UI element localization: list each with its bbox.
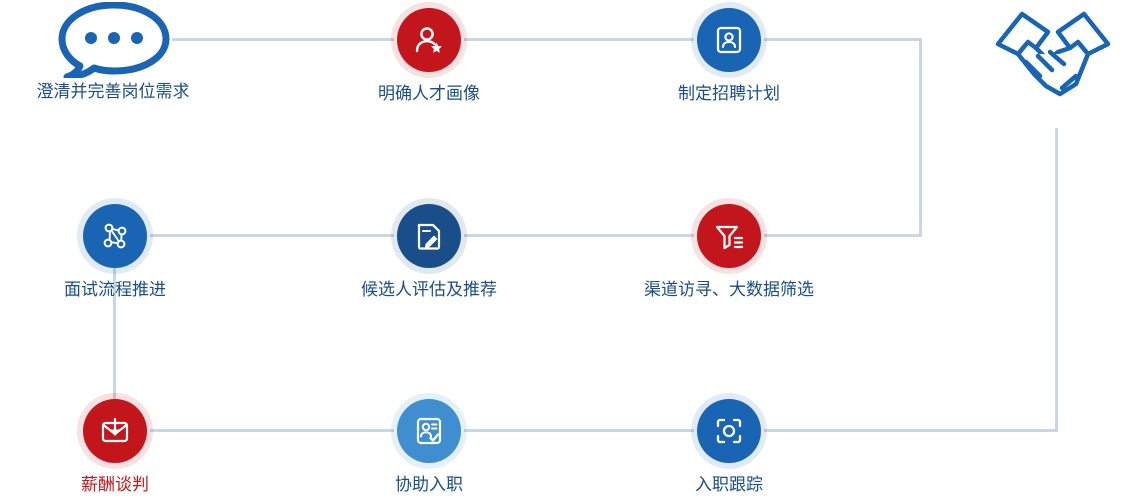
node-icon-wrap bbox=[697, 8, 761, 72]
node-clarify-needs[interactable]: 澄清并完善岗位需求 bbox=[13, 6, 213, 102]
node-recruit-plan[interactable]: 制定招聘计划 bbox=[629, 8, 829, 104]
node-channel-search[interactable]: 渠道访寻、大数据筛选 bbox=[629, 204, 829, 300]
node-icon-wrap bbox=[397, 8, 461, 72]
node-candidate-eval[interactable]: 候选人评估及推荐 bbox=[329, 204, 529, 300]
node-label: 渠道访寻、大数据筛选 bbox=[629, 280, 829, 300]
node-interview-process[interactable]: 面试流程推进 bbox=[15, 204, 215, 300]
badge-check-icon bbox=[412, 414, 446, 448]
id-card-icon bbox=[712, 23, 746, 57]
target-scan-icon bbox=[712, 414, 746, 448]
document-edit-icon bbox=[412, 219, 446, 253]
node-label: 薪酬谈判 bbox=[15, 475, 215, 495]
node-label: 澄清并完善岗位需求 bbox=[13, 82, 213, 102]
node-icon-wrap bbox=[81, 6, 145, 70]
node-onboarding-help[interactable]: 协助入职 bbox=[329, 399, 529, 495]
node-label: 协助入职 bbox=[329, 475, 529, 495]
node-talent-profile[interactable]: 明确人才画像 bbox=[329, 8, 529, 104]
funnel-filter-icon bbox=[712, 219, 746, 253]
node-onboarding-track[interactable]: 入职跟踪 bbox=[629, 399, 829, 495]
node-label: 制定招聘计划 bbox=[629, 84, 829, 104]
node-label: 面试流程推进 bbox=[15, 280, 215, 300]
node-label: 候选人评估及推荐 bbox=[329, 280, 529, 300]
node-icon-wrap bbox=[697, 399, 761, 463]
node-icon-wrap bbox=[83, 399, 147, 463]
node-label: 明确人才画像 bbox=[329, 84, 529, 104]
node-salary-negotiation[interactable]: 薪酬谈判 bbox=[15, 399, 215, 495]
node-icon-wrap bbox=[697, 204, 761, 268]
node-label: 入职跟踪 bbox=[629, 475, 829, 495]
envelope-upload-icon bbox=[98, 414, 132, 448]
process-flow-diagram: 澄清并完善岗位需求 明确人才画像 制定招聘计 bbox=[0, 0, 1126, 501]
connector-row1-to-row2-v bbox=[919, 38, 922, 236]
node-icon-wrap bbox=[397, 204, 461, 268]
node-icon-wrap bbox=[397, 399, 461, 463]
user-star-icon bbox=[412, 23, 446, 57]
connector-handshake-v bbox=[1055, 128, 1058, 432]
handshake-icon bbox=[988, 2, 1118, 110]
network-nodes-icon bbox=[98, 219, 132, 253]
node-icon-wrap bbox=[83, 204, 147, 268]
